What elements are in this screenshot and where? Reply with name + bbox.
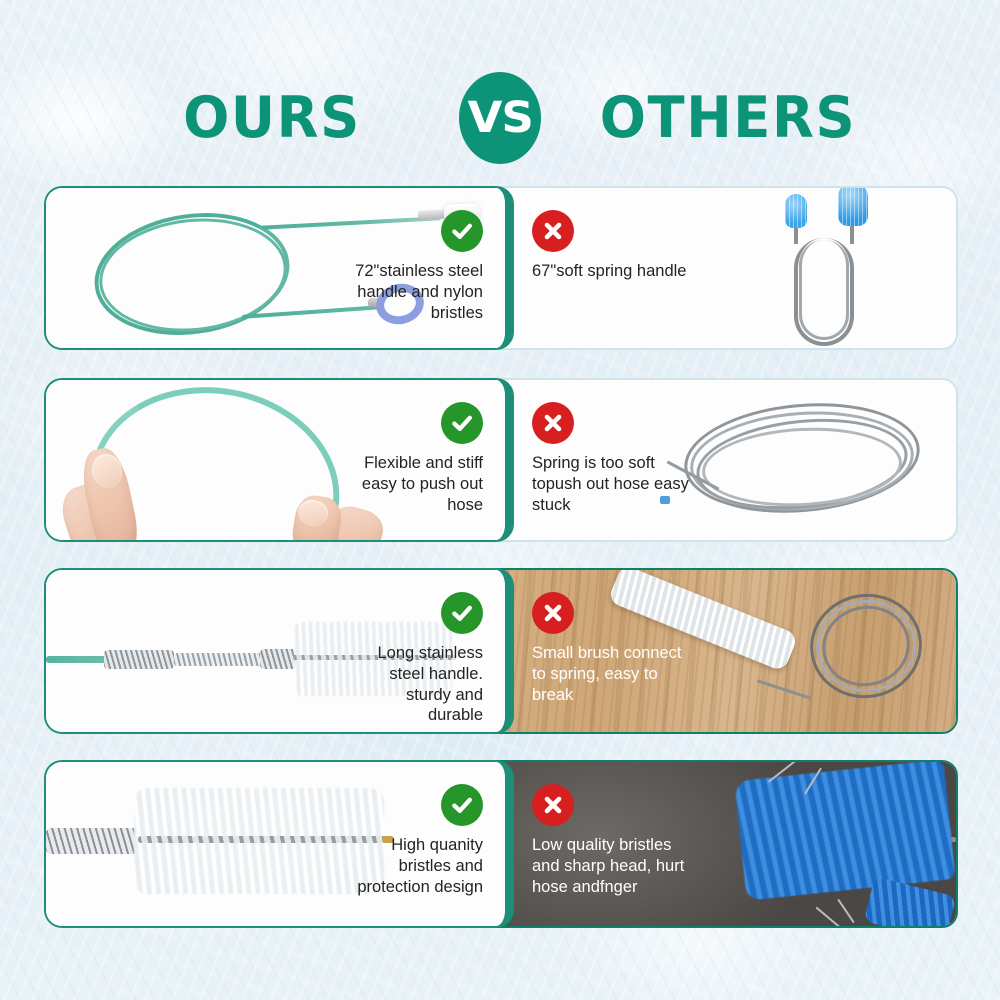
x-circle-icon	[532, 592, 574, 634]
blue-brush-head-small-icon	[785, 194, 807, 228]
ours-caption-text-4: High quanity bristles and protection des…	[351, 835, 483, 897]
others-caption-4: Low quality bristles and sharp head, hur…	[532, 784, 692, 897]
comparison-row-1: 67"soft spring handle 72"stai	[0, 186, 1000, 350]
header-others-label: OTHERS	[553, 85, 903, 151]
spring-brush-illustration-1	[742, 196, 932, 346]
comparison-row-2: Spring is too soft topush out hose easy …	[0, 378, 1000, 542]
ours-caption-4: High quanity bristles and protection des…	[351, 784, 483, 897]
ours-panel-1: 72"stainless steel handle and nylon bris…	[44, 186, 514, 350]
others-caption-text-3: Small brush connect to spring, easy to b…	[532, 643, 692, 705]
ours-caption-text-3: Long stainless steel handle. sturdy and …	[351, 643, 483, 726]
vs-badge: VS	[459, 72, 541, 164]
ours-panel-4: High quanity bristles and protection des…	[44, 760, 514, 928]
ours-caption-text-1: 72"stainless steel handle and nylon bris…	[351, 261, 483, 323]
others-panel-4: Low quality bristles and sharp head, hur…	[478, 760, 958, 928]
comparison-header: OURS VS OTHERS	[0, 78, 1000, 158]
others-caption-text-2: Spring is too soft topush out hose easy …	[532, 453, 692, 515]
ours-caption-text-2: Flexible and stiff easy to push out hose	[351, 453, 483, 515]
others-panel-3: Small brush connect to spring, easy to b…	[478, 568, 958, 734]
x-circle-icon	[532, 210, 574, 252]
check-circle-icon	[441, 402, 483, 444]
comparison-row-3: Small brush connect to spring, easy to b…	[0, 568, 1000, 734]
ours-panel-2: Flexible and stiff easy to push out hose	[44, 378, 514, 542]
check-circle-icon	[441, 592, 483, 634]
check-circle-icon	[441, 210, 483, 252]
comparison-row-4: Low quality bristles and sharp head, hur…	[0, 760, 1000, 928]
coiled-spring-illustration-2	[658, 390, 940, 536]
header-ours-label: OURS	[97, 85, 447, 151]
others-caption-1: 67"soft spring handle	[532, 210, 692, 282]
ours-caption-1: 72"stainless steel handle and nylon bris…	[351, 210, 483, 323]
check-circle-icon	[441, 784, 483, 826]
others-panel-2: Spring is too soft topush out hose easy …	[478, 378, 958, 542]
others-caption-text-4: Low quality bristles and sharp head, hur…	[532, 835, 692, 897]
ours-caption-3: Long stainless steel handle. sturdy and …	[351, 592, 483, 726]
blue-brush-head-large-icon	[838, 186, 868, 226]
ours-caption-2: Flexible and stiff easy to push out hose	[351, 402, 483, 515]
comparison-infographic: OURS VS OTHERS 67"soft spring handle	[0, 0, 1000, 1000]
others-panel-1: 67"soft spring handle	[478, 186, 958, 350]
vs-label: VS	[467, 93, 532, 143]
ours-panel-3: Long stainless steel handle. sturdy and …	[44, 568, 514, 734]
others-caption-2: Spring is too soft topush out hose easy …	[532, 402, 692, 515]
others-caption-3: Small brush connect to spring, easy to b…	[532, 592, 692, 705]
others-caption-text-1: 67"soft spring handle	[532, 261, 686, 282]
x-circle-icon	[532, 784, 574, 826]
x-circle-icon	[532, 402, 574, 444]
